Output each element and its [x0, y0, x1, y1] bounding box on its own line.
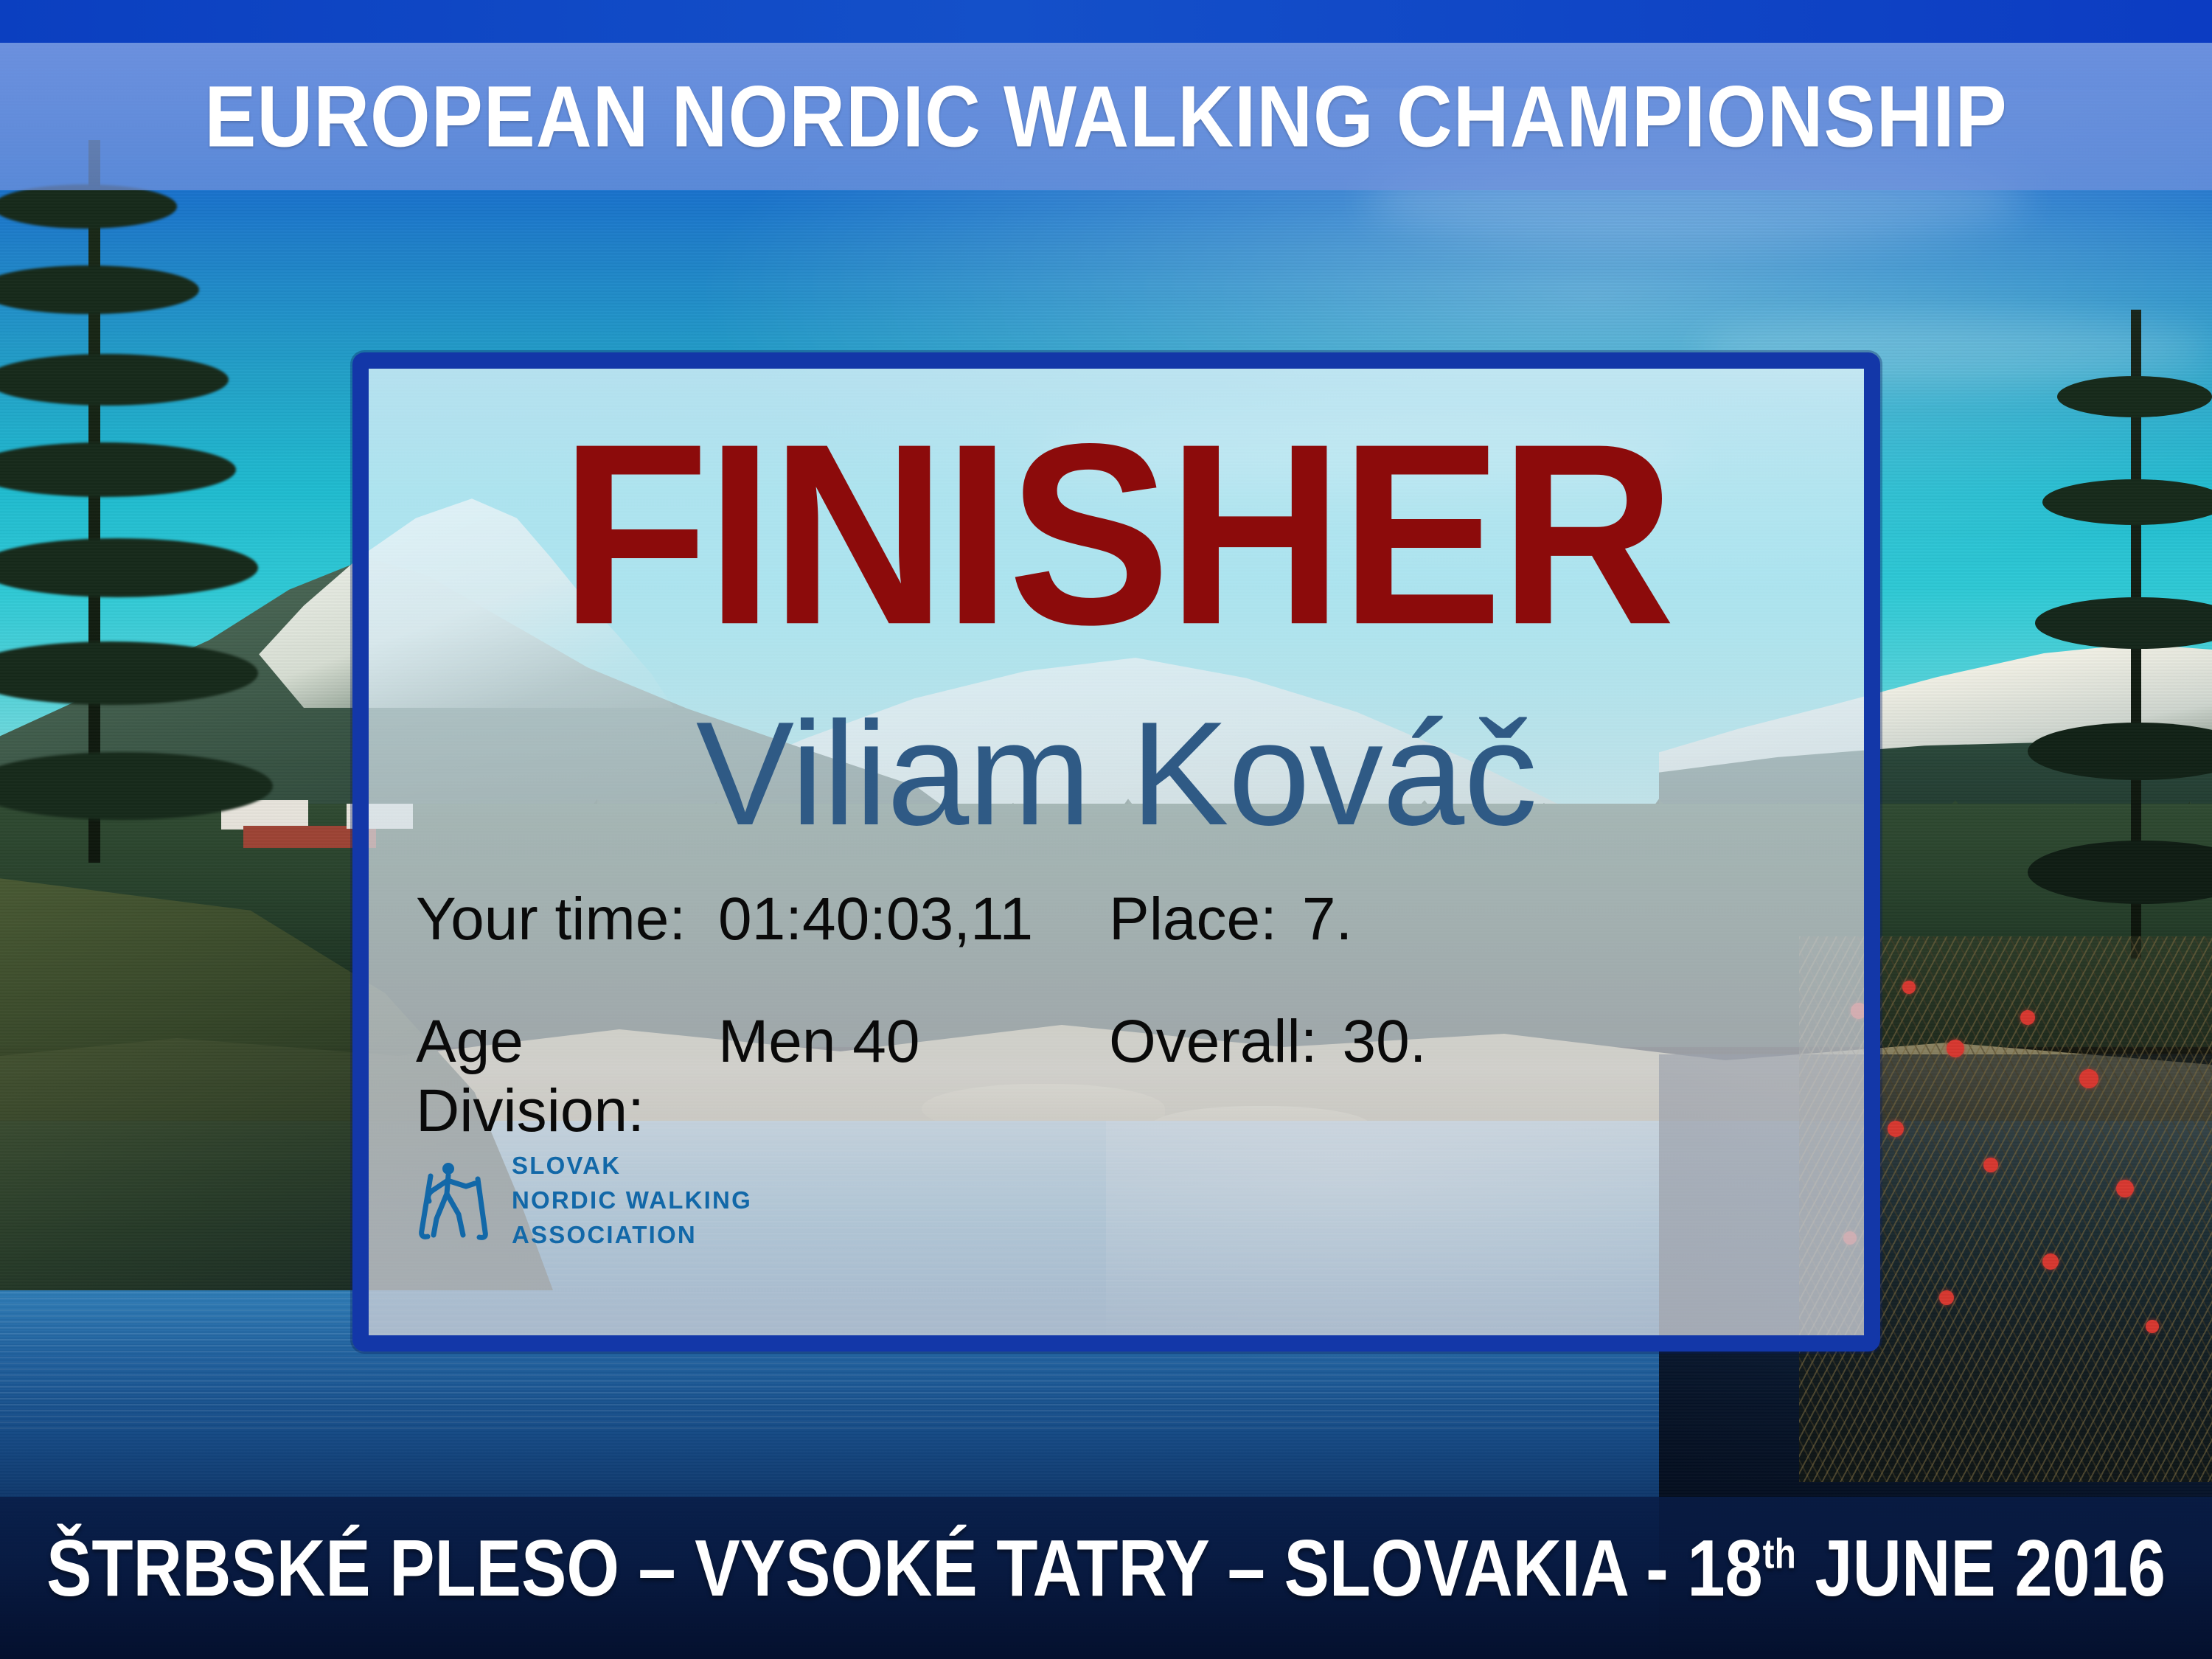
tree-bough	[0, 538, 258, 597]
tree-bough	[0, 442, 236, 497]
event-location-date: ŠTRBSKÉ PLESO – VYSOKÉ TATRY – SLOVAKIA …	[0, 1523, 2212, 1615]
tree-bough	[2028, 841, 2212, 904]
location-prefix: ŠTRBSKÉ PLESO – VYSOKÉ TATRY – SLOVAKIA …	[46, 1524, 1763, 1613]
association-name: SLOVAK NORDIC WALKING ASSOCIATION	[512, 1149, 752, 1253]
certificate-card: FINISHER Viliam Kováč Your time: 01:40:0…	[352, 352, 1880, 1352]
footer-banner: ŠTRBSKÉ PLESO – VYSOKÉ TATRY – SLOVAKIA …	[0, 1497, 2212, 1659]
place-label: Place:	[1065, 885, 1277, 954]
age-division-value: Men 40	[718, 1007, 1065, 1077]
berry	[1902, 981, 1916, 994]
berry	[1947, 1040, 1964, 1057]
your-time-label: Your time:	[416, 885, 718, 954]
finisher-heading: FINISHER	[369, 411, 1864, 656]
tree-bough	[0, 265, 199, 314]
tree-bough	[0, 184, 177, 229]
championship-title: EUROPEAN NORDIC WALKING CHAMPIONSHIP	[204, 73, 2007, 160]
finisher-certificate-poster: EUROPEAN NORDIC WALKING CHAMPIONSHIP FIN…	[0, 0, 2212, 1659]
association-logo: SLOVAK NORDIC WALKING ASSOCIATION	[414, 1149, 752, 1253]
overall-value: 30.	[1318, 1007, 1427, 1077]
nordic-walker-icon	[414, 1161, 495, 1241]
logo-line-3: ASSOCIATION	[512, 1218, 752, 1253]
berry	[1939, 1290, 1954, 1305]
tree-bough	[0, 752, 273, 820]
header-banner: EUROPEAN NORDIC WALKING CHAMPIONSHIP	[0, 43, 2212, 190]
berry	[2146, 1320, 2159, 1333]
place-value: 7.	[1277, 885, 1352, 954]
berry	[2116, 1180, 2134, 1197]
berry	[1983, 1158, 1998, 1172]
age-division-label: Age Division:	[416, 1007, 718, 1146]
berry	[1888, 1121, 1904, 1137]
tree-bough	[2057, 376, 2212, 417]
conifer-tree-left	[0, 140, 295, 863]
berry	[2079, 1069, 2098, 1088]
athlete-name: Viliam Kováč	[369, 700, 1864, 848]
tree-bough	[2035, 597, 2212, 649]
ordinal-suffix: th	[1763, 1531, 1796, 1578]
location-suffix: JUNE 2016	[1796, 1524, 2166, 1613]
berry	[2042, 1253, 2059, 1270]
logo-line-2: NORDIC WALKING	[512, 1183, 752, 1218]
stat-row: Your time: 01:40:03,11 Place: 7.	[416, 885, 1839, 954]
tree-bough	[2028, 723, 2212, 780]
overall-label: Overall:	[1065, 1007, 1318, 1077]
logo-line-1: SLOVAK	[512, 1149, 752, 1183]
tree-bough	[0, 641, 258, 705]
berry	[2020, 1010, 2035, 1025]
tree-bough	[2042, 479, 2212, 525]
top-strip	[0, 0, 2212, 43]
tree-bough	[0, 354, 229, 406]
your-time-value: 01:40:03,11	[718, 885, 1065, 954]
conifer-tree-right	[2035, 310, 2212, 959]
stat-row: Age Division: Men 40 Overall: 30.	[416, 1007, 1839, 1146]
